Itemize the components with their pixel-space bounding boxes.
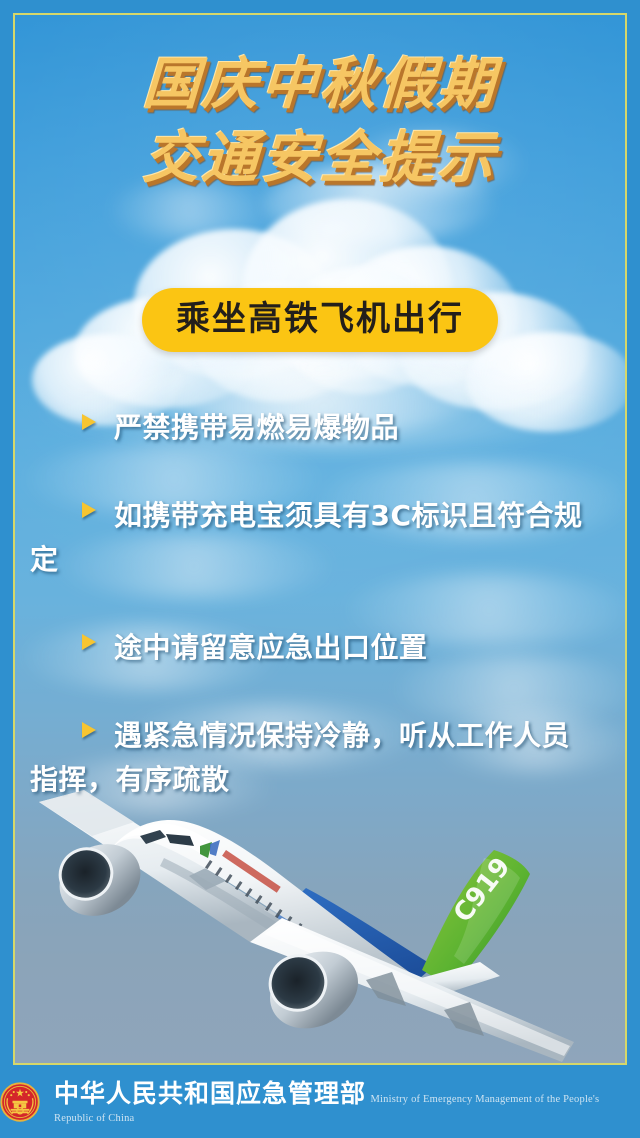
list-item: 严禁携带易燃易爆物品 <box>30 406 590 450</box>
list-item-label: 严禁携带易燃易爆物品 <box>114 411 399 444</box>
safety-tips-list: 严禁携带易燃易爆物品 如携带充电宝须具有3C标识且符合规定 途中请留意应急出口位… <box>30 406 590 846</box>
title-line-1: 国庆中秋假期 <box>0 48 640 122</box>
poster-root: C919 <box>0 0 640 1138</box>
list-item: 遇紧急情况保持冷静，听从工作人员指挥，有序疏散 <box>30 714 590 802</box>
footer-bar: 中华人民共和国应急管理部 Ministry of Emergency Manag… <box>0 1066 640 1138</box>
title-line-2: 交通安全提示 <box>0 122 640 196</box>
arrow-right-icon <box>82 414 96 430</box>
list-item: 途中请留意应急出口位置 <box>30 626 590 670</box>
list-item-label: 遇紧急情况保持冷静，听从工作人员指挥，有序疏散 <box>30 719 570 796</box>
section-badge-label: 乘坐高铁飞机出行 <box>176 299 464 339</box>
page-title: 国庆中秋假期 交通安全提示 <box>0 48 640 196</box>
list-item: 如携带充电宝须具有3C标识且符合规定 <box>30 494 590 582</box>
footer-organization-cn: 中华人民共和国应急管理部 <box>54 1079 366 1108</box>
arrow-right-icon <box>82 502 96 518</box>
arrow-right-icon <box>82 634 96 650</box>
arrow-right-icon <box>82 722 96 738</box>
footer-organization: 中华人民共和国应急管理部 Ministry of Emergency Manag… <box>54 1079 640 1126</box>
section-badge: 乘坐高铁飞机出行 <box>142 288 498 352</box>
list-item-label: 如携带充电宝须具有3C标识且符合规定 <box>30 499 583 576</box>
national-emblem-icon <box>0 1082 40 1122</box>
list-item-label: 途中请留意应急出口位置 <box>114 631 428 664</box>
